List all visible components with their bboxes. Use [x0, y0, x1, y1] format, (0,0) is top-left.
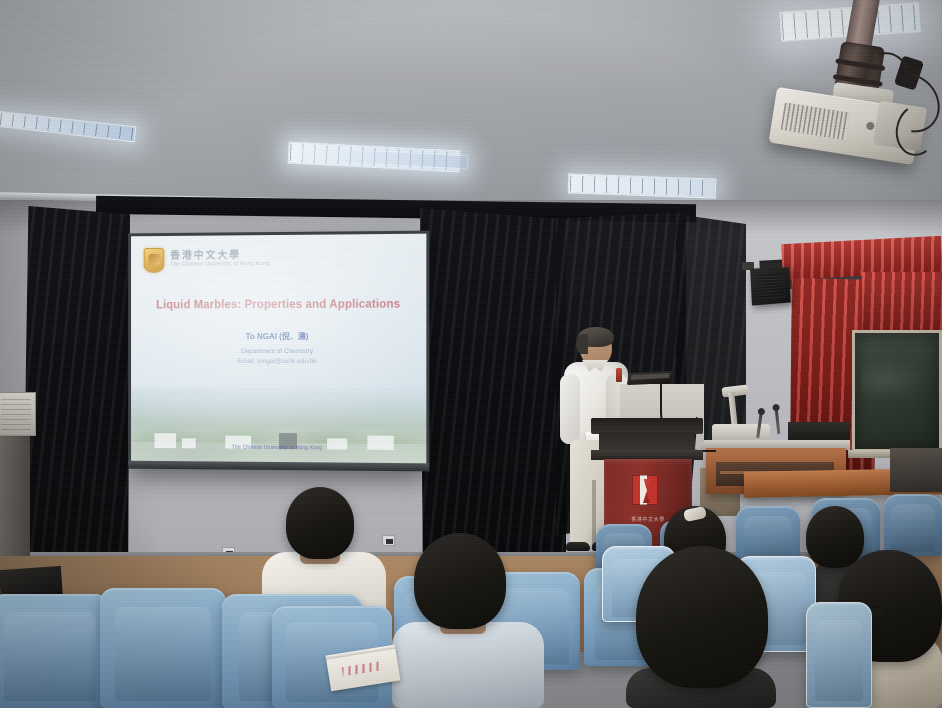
- audience-member-front-left-head: [286, 487, 354, 559]
- seat[interactable]: [806, 602, 872, 708]
- audience-member-center-head: [414, 533, 506, 629]
- cuhk-shield-logo: [144, 248, 165, 273]
- institution-crest-icon: [632, 475, 658, 505]
- side-cabinet: [890, 448, 942, 492]
- projection-screen: 香港中文大學 The Chinese University of Hong Ko…: [128, 231, 429, 470]
- presenter-hair-side: [576, 334, 588, 354]
- university-name-english: The Chinese University of Hong Kong: [170, 262, 270, 268]
- left-equipment-stand: [0, 436, 30, 556]
- lecture-hall-photograph: 香港中文大學 The Chinese University of Hong Ko…: [0, 0, 942, 708]
- audience-member-foreground-head: [636, 546, 768, 688]
- audience-member-right-rear-head: [806, 506, 864, 568]
- slide-branding: 香港中文大學 The Chinese University of Hong Ko…: [144, 247, 270, 273]
- presenter-shoe: [566, 542, 590, 551]
- university-name-block: 香港中文大學 The Chinese University of Hong Ko…: [170, 251, 270, 268]
- seat[interactable]: [0, 594, 110, 708]
- av-equipment-box: [788, 422, 850, 442]
- audience-member-center-torso: [392, 622, 544, 708]
- slide-email: Email: tongai@cuhk.edu.hk: [131, 357, 426, 367]
- chalkboard: [852, 330, 942, 452]
- slide-department: Department of Chemistry: [131, 347, 426, 357]
- slide-campus-photo: [131, 387, 426, 467]
- projector-knob[interactable]: [866, 121, 875, 130]
- seat[interactable]: [100, 588, 226, 708]
- projector-vent: [781, 102, 851, 140]
- water-bottle: [616, 368, 622, 382]
- projected-slide: 香港中文大學 The Chinese University of Hong Ko…: [131, 234, 426, 467]
- slide-title: Liquid Marbles: Properties and Applicati…: [131, 298, 426, 311]
- university-name-chinese: 香港中文大學: [170, 251, 270, 262]
- wall-power-outlet[interactable]: [382, 535, 395, 546]
- wall-mounted-speaker: [750, 267, 791, 305]
- notebook-handwriting: [342, 661, 381, 676]
- seat[interactable]: [884, 494, 942, 556]
- presenter-left-arm: [560, 374, 580, 444]
- lectern-body: [599, 432, 695, 452]
- black-curtain-center: [420, 208, 566, 588]
- slide-author: To NGAI (倪．濤): [131, 331, 426, 342]
- wall-air-vent: [0, 392, 36, 436]
